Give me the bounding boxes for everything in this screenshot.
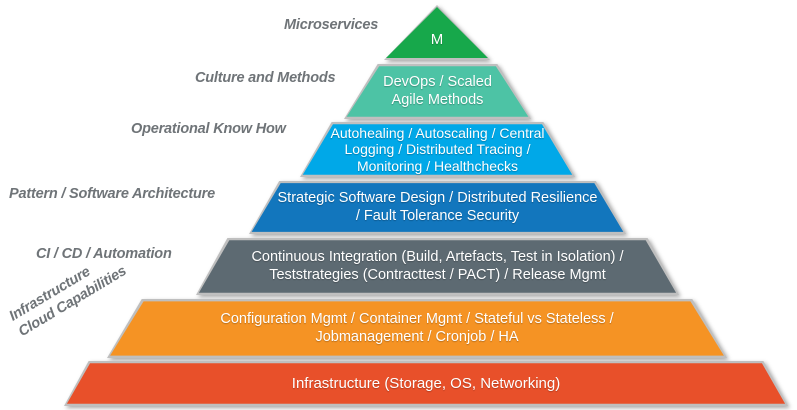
side-label-pattern-software-architecture: Pattern / Software Architecture [9,186,215,202]
pyramid-tier-infrastructure-cloud-capabilities[interactable]: Configuration Mgmt / Container Mgmt / St… [107,299,727,358]
pyramid-tier-infrastructure-base[interactable]: Infrastructure (Storage, OS, Networking) [64,361,788,406]
tier-label-infrastructure-cloud-capabilities: Configuration Mgmt / Container Mgmt / St… [216,311,617,345]
side-label-culture-and-methods: Culture and Methods [195,70,335,86]
side-label-microservices: Microservices [284,17,378,33]
pyramid-tier-pattern-software-architecture[interactable]: Strategic Software Design / Distributed … [249,181,626,234]
tier-label-pattern-software-architecture: Strategic Software Design / Distributed … [274,190,602,224]
pyramid-tier-operational-know-how[interactable]: Autohealing / Autoscaling / Central Logg… [300,122,575,177]
pyramid-tier-ci-cd-automation[interactable]: Continuous Integration (Build, Artefacts… [196,238,679,295]
pyramid-tier-culture-and-methods[interactable]: DevOps / Scaled Agile Methods [344,64,531,119]
tier-label-operational-know-how: Autohealing / Autoscaling / Central Logg… [326,125,548,175]
pyramid-tier-microservices[interactable]: M [384,5,490,60]
tier-label-culture-and-methods: DevOps / Scaled Agile Methods [379,74,496,108]
side-label-operational-know-how: Operational Know How [131,121,286,137]
tier-label-ci-cd-automation: Continuous Integration (Build, Artefacts… [247,249,627,283]
tier-label-infrastructure-base: Infrastructure (Storage, OS, Networking) [288,375,564,393]
pyramid-diagram: M Microservices DevOps / Scaled Agile Me… [0,0,797,410]
tier-label-microservices: M [427,31,448,49]
